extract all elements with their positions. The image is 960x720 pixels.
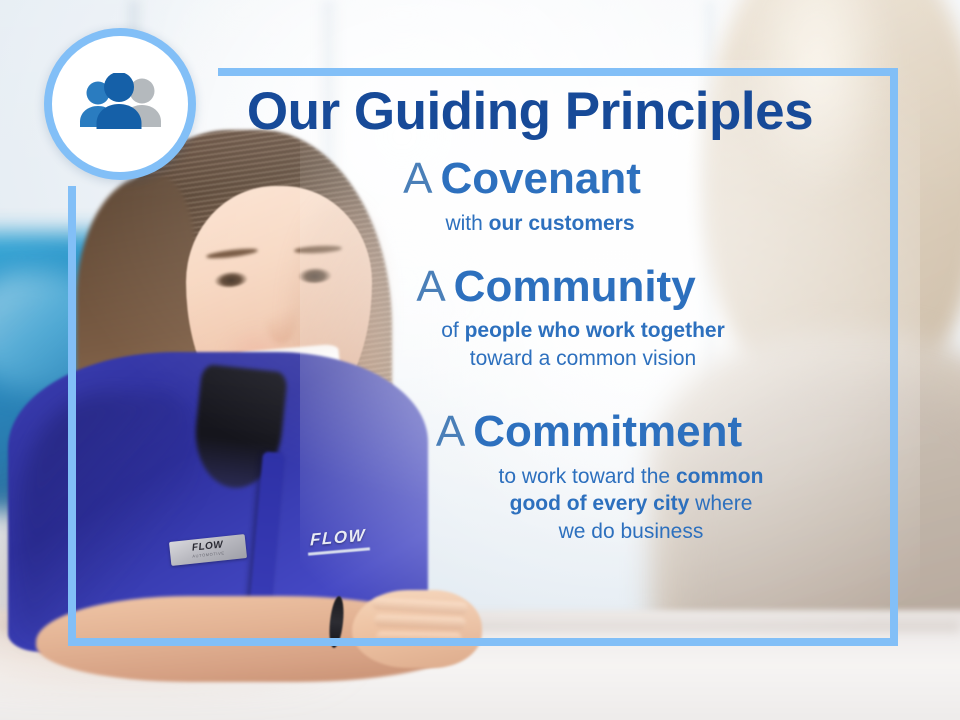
subline-plain: where — [689, 492, 752, 515]
principle-community-subline: of people who work together — [286, 317, 880, 345]
principle-commitment-title: ACommitment — [298, 409, 880, 455]
principle-covenant-word: Covenant — [440, 154, 640, 203]
subline-plain: toward a common vision — [470, 347, 696, 370]
principle-community-subtitle: of people who work together toward a com… — [286, 317, 880, 372]
principle-community-word: Community — [454, 262, 696, 311]
principle-community-subline: toward a common vision — [286, 345, 880, 373]
principle-commitment-word: Commitment — [473, 407, 742, 456]
principle-commitment-article: A — [436, 407, 465, 456]
principle-covenant-article: A — [403, 154, 432, 203]
principle-commitment: ACommitment to work toward the common go… — [298, 409, 880, 546]
principle-commitment-subtitle: to work toward the common good of every … — [382, 463, 880, 546]
subline-plain: we do business — [559, 520, 704, 543]
poster-root: FLOW AUTOMOTIVE FLOW — [0, 0, 960, 720]
principle-community-article: A — [416, 262, 445, 311]
principle-covenant-subline: with our customers — [200, 210, 880, 238]
principle-covenant-title: ACovenant — [164, 156, 880, 202]
subline-bold: people who work together — [465, 319, 725, 342]
subline-plain: to work toward the — [499, 465, 676, 488]
subline-plain: with — [445, 212, 488, 235]
principle-commitment-subline: we do business — [382, 518, 880, 546]
hand-finger — [376, 631, 462, 644]
principle-community: ACommunity of people who work together t… — [232, 264, 880, 373]
subline-plain: of — [441, 319, 464, 342]
principle-covenant-subtitle: with our customers — [200, 210, 880, 238]
principle-covenant: ACovenant with our customers — [164, 156, 880, 237]
subline-bold: our customers — [489, 212, 635, 235]
principle-commitment-subline: good of every city where — [382, 490, 880, 518]
people-group-icon — [74, 73, 166, 135]
principle-commitment-subline: to work toward the common — [382, 463, 880, 491]
subline-bold: common — [676, 465, 764, 488]
page-title: Our Guiding Principles — [180, 84, 880, 140]
principles-text-block: Our Guiding Principles ACovenant with ou… — [180, 84, 880, 546]
subline-bold: good of every city — [510, 492, 690, 515]
principle-community-title: ACommunity — [232, 264, 880, 310]
